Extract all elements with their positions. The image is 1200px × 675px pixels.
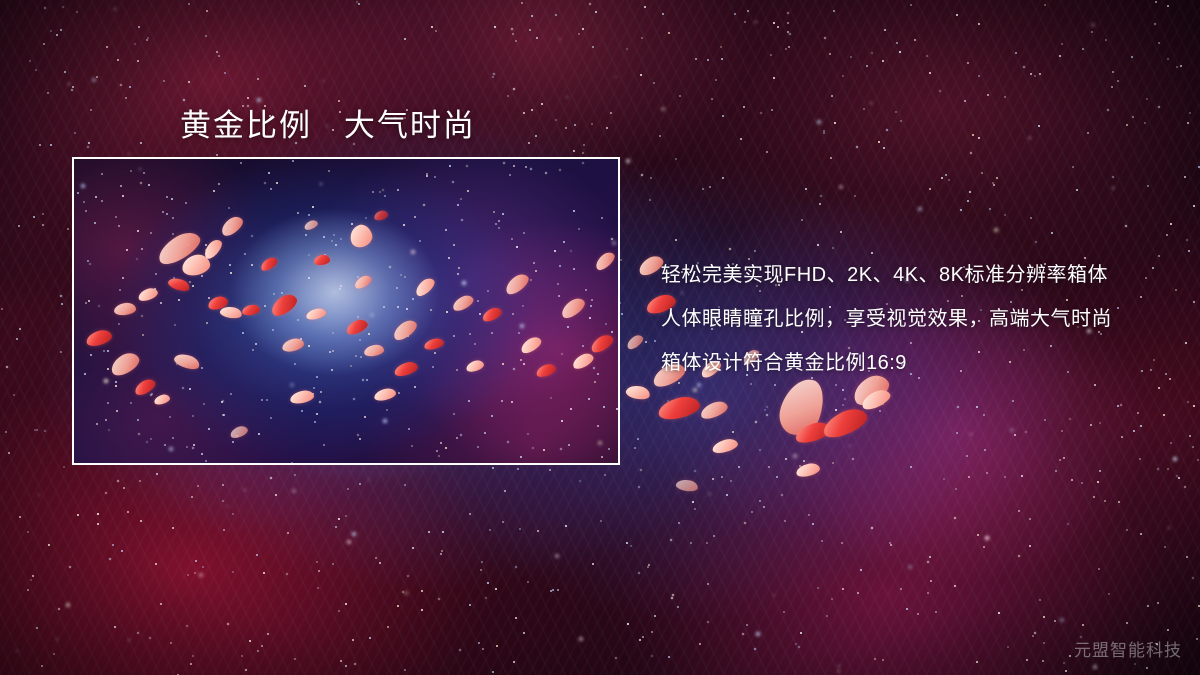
body-line-1: 轻松完美实现FHD、2K、4K、8K标准分辨率箱体 xyxy=(661,253,1161,297)
body-line-2: 人体眼睛瞳孔比例，享受视觉效果，高端大气时尚 xyxy=(661,297,1161,341)
petal xyxy=(132,377,157,398)
petal xyxy=(593,249,618,272)
petal xyxy=(390,317,419,343)
petal xyxy=(241,304,260,316)
inset-image xyxy=(74,159,618,463)
inset-petals xyxy=(74,159,618,463)
slide-canvas: 黄金比例 大气时尚 轻松完美实现FHD、2K、4K、8K标准分辨率箱体 人体眼睛… xyxy=(0,0,1200,675)
petal xyxy=(347,222,375,250)
petal xyxy=(675,478,699,493)
petal xyxy=(137,286,159,303)
petal xyxy=(820,404,871,442)
petal xyxy=(314,254,331,266)
petal xyxy=(108,349,143,379)
petal xyxy=(656,394,701,422)
petal xyxy=(711,437,739,455)
watermark: 元盟智能科技 xyxy=(1074,636,1182,661)
petal xyxy=(465,359,485,374)
background-starfield xyxy=(0,0,2,2)
page-title: 黄金比例 大气时尚 xyxy=(180,100,476,145)
petal xyxy=(625,384,651,402)
petal xyxy=(268,291,300,319)
petal xyxy=(558,295,587,321)
petal xyxy=(289,389,315,405)
inset-image-frame xyxy=(72,157,620,465)
petal xyxy=(393,360,419,378)
petal xyxy=(795,462,821,479)
body-text-block: 轻松完美实现FHD、2K、4K、8K标准分辨率箱体 人体眼睛瞳孔比例，享受视觉效… xyxy=(661,253,1161,385)
petal xyxy=(281,337,305,353)
petal xyxy=(363,344,384,358)
petal xyxy=(859,387,893,413)
petal xyxy=(481,305,504,323)
petal xyxy=(423,337,445,351)
petal xyxy=(518,334,543,355)
petal xyxy=(218,213,246,238)
petal xyxy=(345,317,370,336)
petal xyxy=(698,399,729,422)
petal xyxy=(303,219,319,232)
petal xyxy=(450,293,475,313)
petal xyxy=(219,305,243,320)
petal xyxy=(259,255,280,273)
petal xyxy=(373,209,389,221)
petal xyxy=(570,351,595,371)
petal xyxy=(85,328,114,348)
petal xyxy=(173,351,202,372)
petal xyxy=(305,307,327,321)
petal xyxy=(229,424,249,440)
petal xyxy=(373,387,397,402)
petal xyxy=(413,275,438,298)
petal xyxy=(353,273,374,290)
body-line-3: 箱体设计符合黄金比例16:9 xyxy=(661,341,1161,385)
petal xyxy=(167,276,191,294)
petal xyxy=(502,271,531,298)
petal xyxy=(535,362,557,379)
petal xyxy=(793,419,832,445)
petal xyxy=(625,333,645,352)
petal xyxy=(588,332,615,355)
petal xyxy=(114,302,137,316)
petal xyxy=(153,393,171,406)
